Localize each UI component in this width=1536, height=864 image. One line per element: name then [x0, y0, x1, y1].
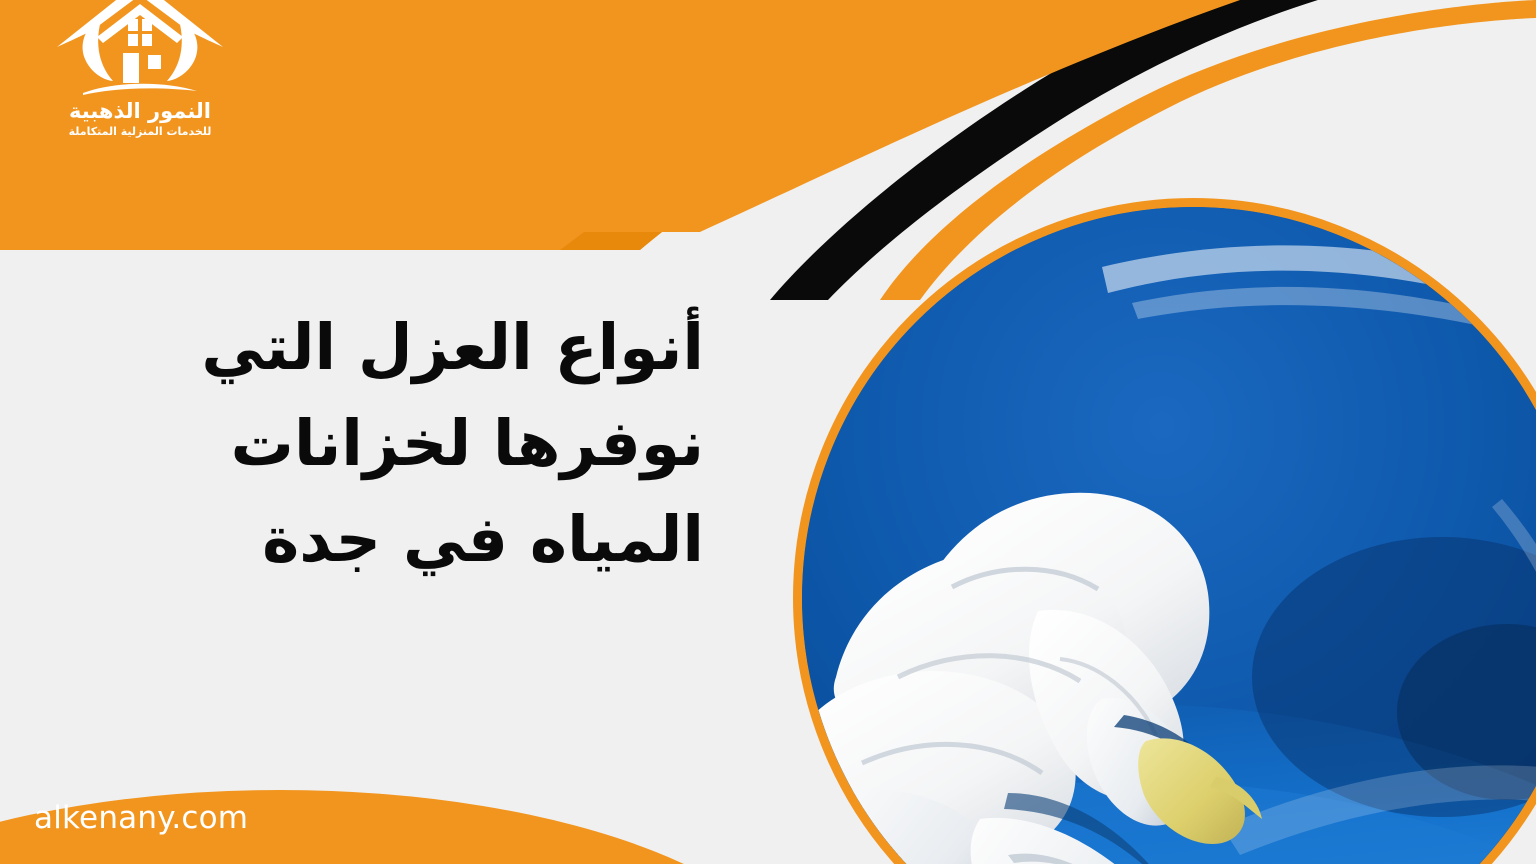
worker-sealing-water-tank-photo: [802, 207, 1536, 864]
site-watermark: alkenany.com: [34, 800, 248, 836]
headline-line-1: أنواع العزل التي: [90, 300, 704, 396]
page-title: أنواع العزل التي نوفرها لخزانات المياه ف…: [90, 300, 704, 587]
house-icon: [55, 0, 225, 99]
brand-name: النمور الذهبية: [69, 100, 211, 122]
brand-logo-stack: النمور الذهبية للخدمات المنزلية المتكامل…: [0, 0, 352, 138]
headline-line-3: المياه في جدة: [90, 492, 704, 588]
brand-tagline: للخدمات المنزلية المتكاملة: [69, 125, 212, 138]
headline-line-2: نوفرها لخزانات: [90, 396, 704, 492]
brand-logo-badge: النمور الذهبية للخدمات المنزلية المتكامل…: [0, 0, 352, 156]
hero-photo-circle: [793, 198, 1536, 864]
banner-canvas: النمور الذهبية للخدمات المنزلية المتكامل…: [0, 0, 1536, 864]
